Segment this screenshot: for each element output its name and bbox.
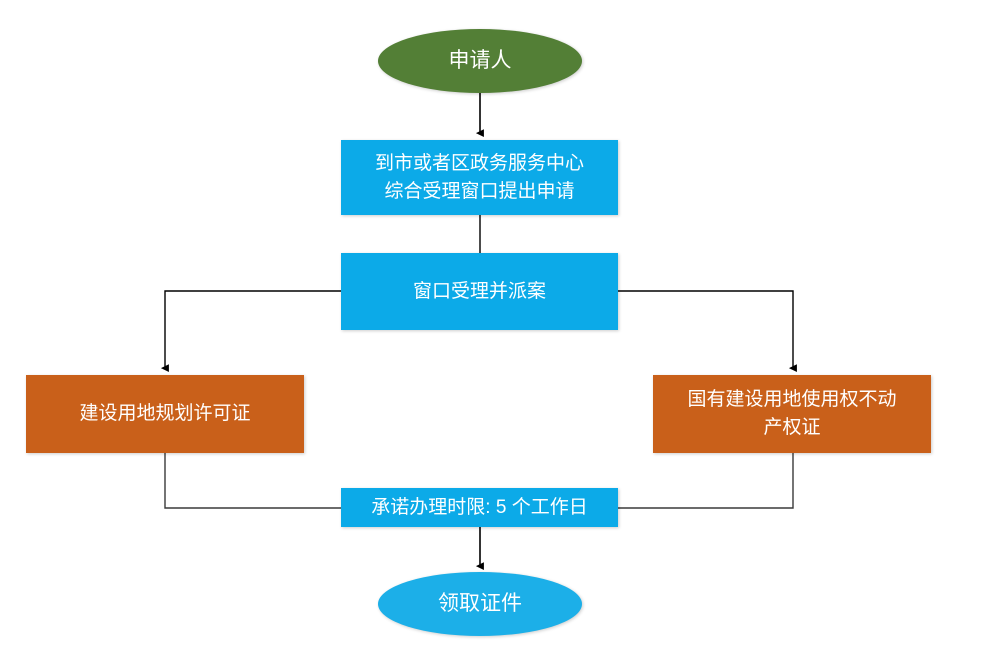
node-construction-land-planning-permit-label: 建设用地规划许可证 [69,400,260,428]
node-submit-application-label: 到市或者区政务服务中心 综合受理窗口提出申请 [365,150,594,205]
edge-window-to-planning-permit [165,291,341,368]
node-collect-certificate-label: 领取证件 [428,589,532,619]
node-state-owned-land-use-right-certificate-label: 国有建设用地使用权不动 产权证 [677,386,906,441]
node-commitment-time-limit[interactable]: 承诺办理时限: 5 个工作日 [341,488,618,527]
node-commitment-time-limit-label: 承诺办理时限: 5 个工作日 [361,494,597,522]
node-submit-application[interactable]: 到市或者区政务服务中心 综合受理窗口提出申请 [341,140,618,215]
edge-land-certificate-to-commitment [618,453,793,508]
edge-planning-permit-to-commitment [165,453,341,508]
edge-window-to-land-certificate [618,291,793,368]
node-collect-certificate[interactable]: 领取证件 [378,572,582,636]
connector-layer [0,0,982,661]
node-window-accept-dispatch[interactable]: 窗口受理并派案 [341,253,618,330]
node-window-accept-dispatch-label: 窗口受理并派案 [403,278,556,306]
node-construction-land-planning-permit[interactable]: 建设用地规划许可证 [26,375,304,453]
node-applicant-label: 申请人 [439,46,522,76]
node-state-owned-land-use-right-certificate[interactable]: 国有建设用地使用权不动 产权证 [653,375,931,453]
node-applicant[interactable]: 申请人 [378,29,582,93]
flowchart-canvas: 申请人 到市或者区政务服务中心 综合受理窗口提出申请 窗口受理并派案 建设用地规… [0,0,982,661]
